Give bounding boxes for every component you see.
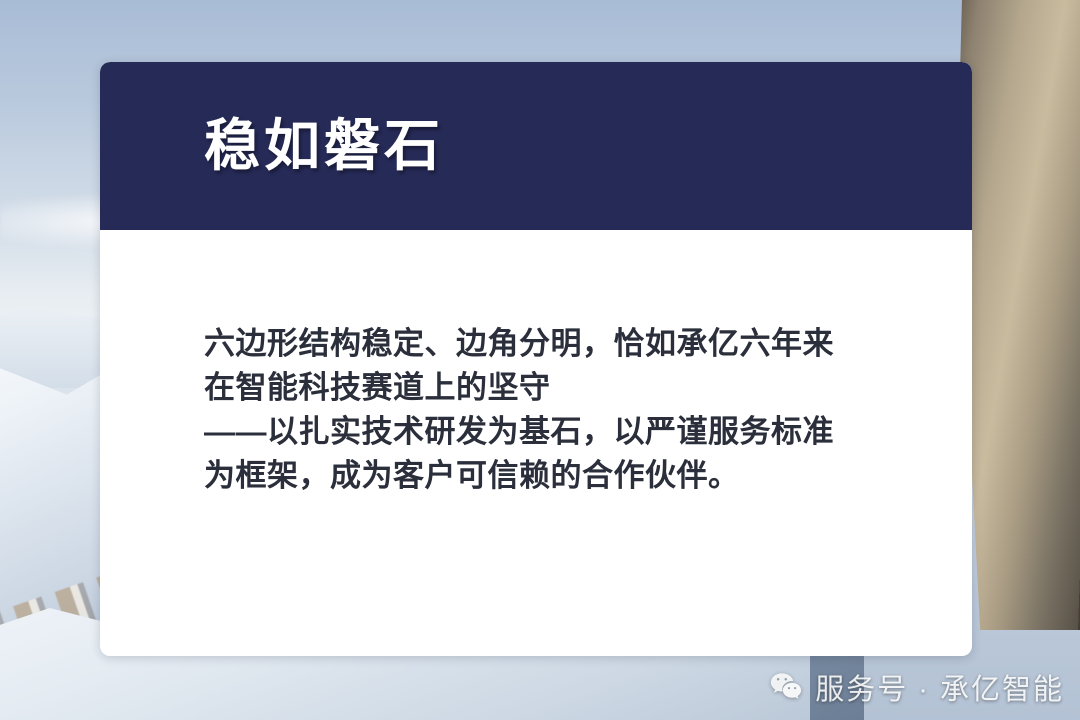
card-header: 稳如磐石 <box>100 62 972 230</box>
content-card: 稳如磐石 六边形结构稳定、边角分明，恰如承亿六年来 在智能科技赛道上的坚守 ——… <box>100 62 972 656</box>
card-body: 六边形结构稳定、边角分明，恰如承亿六年来 在智能科技赛道上的坚守 ——以扎实技术… <box>100 230 972 498</box>
watermark-text: 服务号 · 承亿智能 <box>815 666 1064 708</box>
watermark: 服务号 · 承亿智能 <box>769 666 1064 708</box>
body-line: ——以扎实技术研发为基石，以严谨服务标准 <box>204 410 972 454</box>
body-line: 在智能科技赛道上的坚守 <box>204 366 972 410</box>
body-line: 六边形结构稳定、边角分明，恰如承亿六年来 <box>204 322 972 366</box>
slide-canvas: 稳如磐石 六边形结构稳定、边角分明，恰如承亿六年来 在智能科技赛道上的坚守 ——… <box>0 0 1080 720</box>
wechat-icon <box>769 670 803 704</box>
body-line: 为框架，成为客户可信赖的合作伙伴。 <box>204 454 972 498</box>
card-title: 稳如磐石 <box>204 118 444 174</box>
